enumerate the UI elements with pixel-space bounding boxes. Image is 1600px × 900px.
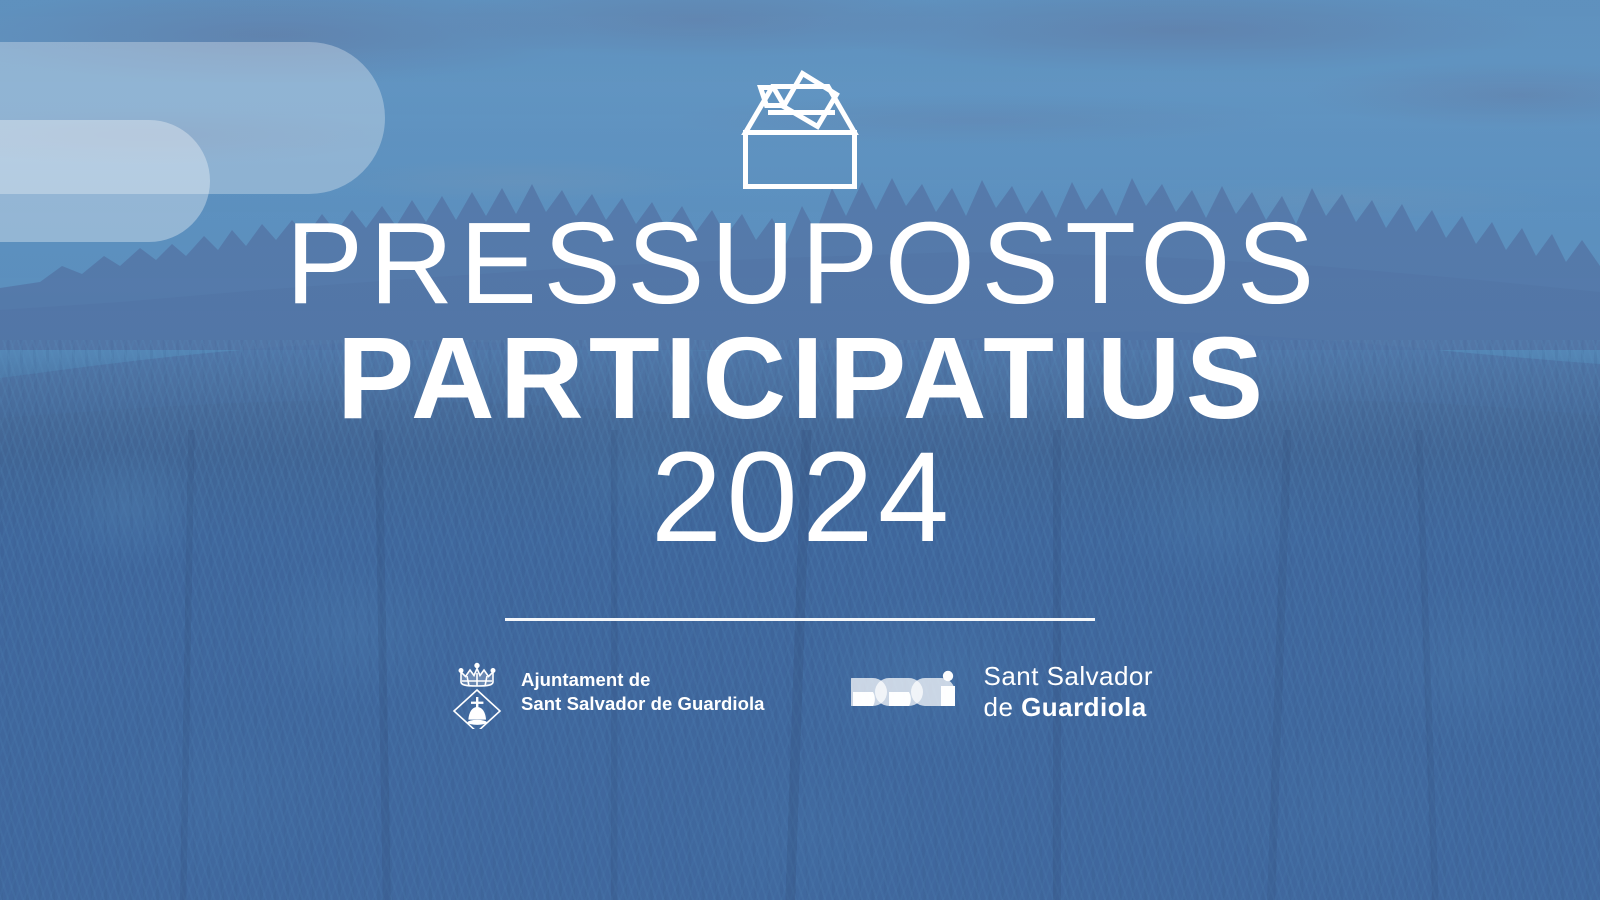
divider-rule: [505, 618, 1095, 621]
ssg-line-1: Sant Salvador: [984, 661, 1153, 691]
ballot-box-icon: [740, 62, 860, 192]
poster-canvas: PRESSUPOSTOS PARTICIPATIUS 2024: [0, 0, 1600, 900]
crown-and-shield-crest-icon: [447, 655, 507, 729]
ajuntament-line-1: Ajuntament de: [521, 668, 765, 692]
title-line-3-year: 2024: [279, 437, 1320, 560]
title-line-2: PARTICIPATIUS: [279, 323, 1320, 434]
ssg-text-block: Sant Salvador de Guardiola: [984, 661, 1153, 721]
ajuntament-line-2: Sant Salvador de Guardiola: [521, 692, 765, 716]
ajuntament-logo: Ajuntament de Sant Salvador de Guardiola: [447, 655, 765, 729]
ssg-line-2-light: de: [984, 692, 1022, 722]
poster-titles: PRESSUPOSTOS PARTICIPATIUS 2024: [279, 208, 1320, 560]
logo-row: Ajuntament de Sant Salvador de Guardiola: [447, 655, 1153, 729]
ssg-logo: Sant Salvador de Guardiola: [851, 661, 1153, 721]
ajuntament-text-block: Ajuntament de Sant Salvador de Guardiola: [521, 668, 765, 715]
poster-content: PRESSUPOSTOS PARTICIPATIUS 2024: [0, 0, 1600, 900]
ssg-line-2-bold: Guardiola: [1021, 692, 1147, 722]
title-line-1: PRESSUPOSTOS: [279, 208, 1320, 319]
ssg-monogram-icon: [851, 670, 969, 714]
ssg-line-2: de Guardiola: [984, 692, 1153, 722]
